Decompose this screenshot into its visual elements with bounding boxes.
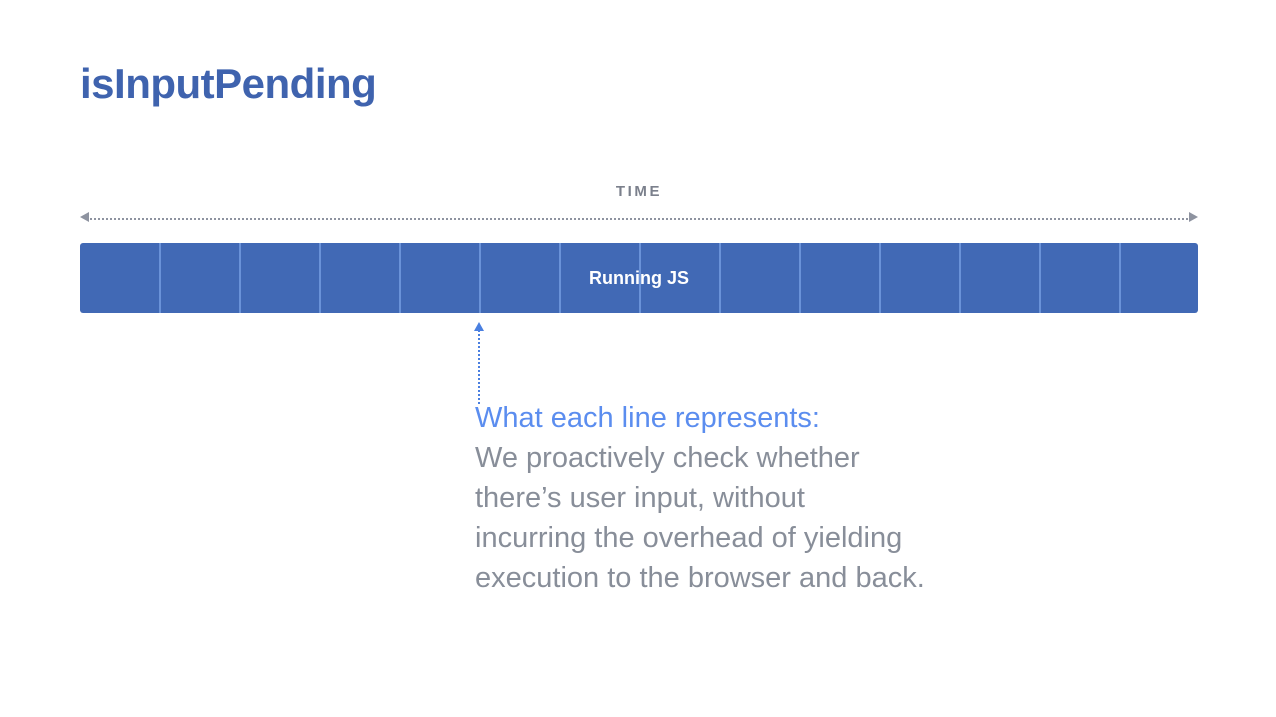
callout-heading: What each line represents: [475, 398, 995, 438]
running-js-bar [80, 243, 1198, 313]
bar-segment-divider [159, 243, 161, 313]
bar-segment-divider [799, 243, 801, 313]
bar-segment-divider [399, 243, 401, 313]
arrow-left-icon [80, 212, 89, 222]
time-axis-line [90, 218, 1188, 220]
bar-segment-divider [1119, 243, 1121, 313]
callout-body: We proactively check whether there’s use… [475, 438, 995, 598]
callout-body-line: incurring the overhead of yielding [475, 518, 995, 558]
bar-segment-divider [959, 243, 961, 313]
callout-pointer-line [478, 330, 480, 404]
callout-body-line: there’s user input, without [475, 478, 995, 518]
bar-segment-divider [239, 243, 241, 313]
bar-segment-divider [1039, 243, 1041, 313]
time-axis: TIME [80, 183, 1198, 223]
time-axis-label: TIME [80, 183, 1198, 200]
callout-pointer [472, 322, 486, 404]
bar-segment-divider [479, 243, 481, 313]
bar-segment-divider [719, 243, 721, 313]
page-title: isInputPending [80, 60, 376, 108]
bar-segment-divider [639, 243, 641, 313]
callout-text-block: What each line represents: We proactivel… [475, 398, 995, 598]
callout-body-line: We proactively check whether [475, 438, 995, 478]
bar-segment-divider [559, 243, 561, 313]
bar-segment-divider [319, 243, 321, 313]
arrow-right-icon [1189, 212, 1198, 222]
bar-segment-divider [879, 243, 881, 313]
callout-body-line: execution to the browser and back. [475, 558, 995, 598]
